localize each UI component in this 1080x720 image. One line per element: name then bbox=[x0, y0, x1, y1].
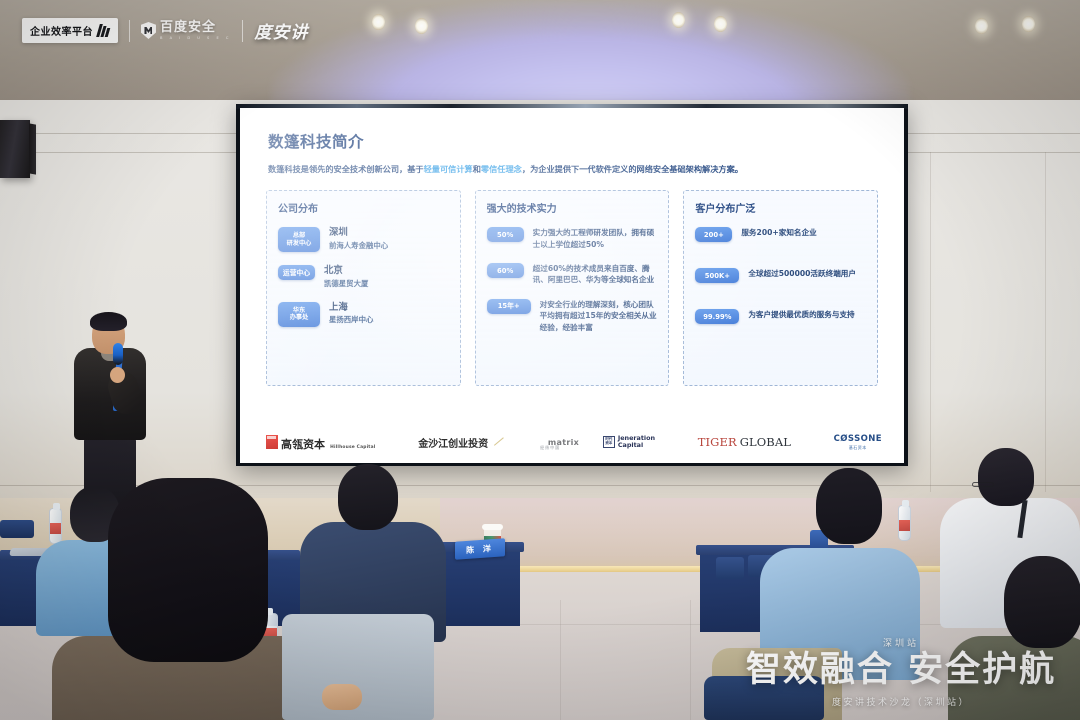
intro-part-3: ，为企业提供下一代软件定义的网络安全基础架构解决方案。 bbox=[522, 164, 743, 174]
intro-part-2: 和 bbox=[473, 164, 481, 174]
wall-seam bbox=[0, 485, 1080, 486]
slide-title: 数篷科技简介 bbox=[268, 130, 878, 152]
ceiling-downlight bbox=[372, 14, 385, 30]
column-heading: 强大的技术实力 bbox=[487, 200, 659, 215]
stat-text: 为客户提供最优质的服务与支持 bbox=[748, 309, 854, 320]
stat-row: 15年+ 对安全行业的理解深刻，核心团队平均拥有超过15年的安全相关从业经验，经… bbox=[487, 299, 659, 333]
investor-name-en: CØSSONE bbox=[834, 434, 882, 444]
column-heading: 客户分布广泛 bbox=[695, 200, 867, 215]
stat-row: 200+ 服务200+家知名企业 bbox=[695, 227, 867, 242]
wall-panel-edge bbox=[1045, 152, 1046, 492]
baidu-sub: B A I D U S E C bbox=[160, 36, 231, 40]
investor-name-en-2: Capital bbox=[618, 442, 655, 449]
projection-screen: 数篷科技简介 数篷科技是领先的安全技术创新公司，基于轻量可信计算和零信任理念，为… bbox=[240, 108, 904, 463]
location-city: 上海 bbox=[329, 302, 373, 314]
stat-text: 实力强大的工程师研发团队，拥有硕士以上学位超过50% bbox=[533, 227, 659, 250]
stat-row: 50% 实力强大的工程师研发团队，拥有硕士以上学位超过50% bbox=[487, 227, 659, 250]
ceiling-downlight bbox=[714, 16, 727, 32]
location-address: 星扬西岸中心 bbox=[329, 315, 373, 325]
gsr-slash-icon bbox=[494, 438, 504, 447]
stat-row: 99.99% 为客户提供最优质的服务与支持 bbox=[695, 309, 867, 324]
matrix-cn-wrap: 经纬中国 bbox=[540, 445, 560, 451]
location-address: 凯德星贸大厦 bbox=[324, 279, 368, 289]
stat-text: 超过60%的技术成员来自百度、腾讯、阿里巴巴、华为等全球知名企业 bbox=[533, 263, 659, 286]
stat-badge: 15年+ bbox=[487, 299, 531, 314]
location-city: 北京 bbox=[324, 265, 368, 277]
column-customer-distribution: 客户分布广泛 200+ 服务200+家知名企业 500K+ 全球超过500000… bbox=[683, 190, 878, 386]
stat-badge: 50% bbox=[487, 227, 524, 242]
location-row: 总部 研发中心 深圳 前海人寿金融中心 bbox=[278, 227, 450, 252]
stat-text: 服务200+家知名企业 bbox=[741, 227, 816, 238]
investor-logo-gsr: 金沙江创业投资 bbox=[418, 435, 505, 450]
logo-enterprise-efficiency-platform: 企业效率平台 bbox=[22, 18, 118, 43]
projection-screen-frame: 数篷科技简介 数篷科技是领先的安全技术创新公司，基于轻量可信计算和零信任理念，为… bbox=[236, 104, 908, 466]
ceiling-downlight bbox=[975, 18, 988, 34]
investor-logo-hillhouse: 高瓴资本 Hillhouse Capital bbox=[266, 433, 375, 452]
baidu-text: 百度安全 B A I D U S E C bbox=[160, 21, 231, 40]
location-text: 北京 凯德星贸大厦 bbox=[324, 265, 368, 288]
logo-baidu-security: 百度安全 B A I D U S E C bbox=[141, 21, 231, 40]
intro-highlight-2: 零信任理念 bbox=[481, 164, 522, 174]
ceiling-downlight bbox=[1022, 16, 1035, 32]
baidu-shield-icon bbox=[141, 22, 156, 39]
investor-logo-strip: 高瓴资本 Hillhouse Capital 金沙江创业投资 matrix 经纬… bbox=[266, 427, 882, 457]
location-city: 深圳 bbox=[329, 227, 388, 239]
floor-tile-line bbox=[560, 600, 561, 720]
floor bbox=[0, 572, 1080, 720]
investor-name-cn: 基石资本 bbox=[849, 445, 867, 451]
stat-text: 全球超过500000活跃终端用户 bbox=[748, 268, 856, 279]
stat-badge: 99.99% bbox=[695, 309, 739, 324]
investor-logo-jeneration: 时代 资本 Jeneration Capital bbox=[603, 435, 655, 449]
stat-text: 对安全行业的理解深刻，核心团队平均拥有超过15年的安全相关从业经验，经验丰富 bbox=[540, 299, 659, 333]
broadcast-brand-bar: 企业效率平台 百度安全 B A I D U S E C 度安讲 bbox=[22, 18, 308, 43]
ceiling-projector-glow bbox=[270, 0, 910, 104]
investor-name-cn: 金沙江创业投资 bbox=[418, 435, 488, 450]
wall-speaker bbox=[0, 120, 30, 178]
location-address: 前海人寿金融中心 bbox=[329, 241, 388, 251]
ceiling-downlight bbox=[415, 18, 428, 34]
stat-badge: 500K+ bbox=[695, 268, 739, 283]
location-row: 华东 办事处 上海 星扬西岸中心 bbox=[278, 302, 450, 327]
hillhouse-text: 高瓴资本 Hillhouse Capital bbox=[281, 433, 375, 452]
investor-name-cn: 经纬中国 bbox=[540, 445, 560, 451]
floor-tile-line bbox=[690, 600, 691, 720]
stat-row: 500K+ 全球超过500000活跃终端用户 bbox=[695, 268, 867, 283]
location-badge: 运营中心 bbox=[278, 265, 315, 280]
investor-logo-matrix: matrix 经纬中国 bbox=[548, 434, 560, 451]
wall-panel-edge bbox=[930, 152, 931, 492]
platform-label: 企业效率平台 bbox=[30, 23, 93, 38]
investor-logo-tiger-global: TIGERGLOBAL bbox=[698, 435, 791, 449]
investor-name-part-2: GLOBAL bbox=[740, 435, 791, 449]
location-text: 上海 星扬西岸中心 bbox=[329, 302, 373, 325]
baidu-name: 百度安全 bbox=[160, 21, 231, 34]
location-text: 深圳 前海人寿金融中心 bbox=[329, 227, 388, 250]
investor-logo-cornerstone: CØSSONE 基石资本 bbox=[834, 434, 882, 451]
location-badge: 华东 办事处 bbox=[278, 302, 320, 327]
conference-photo: 数篷科技简介 数篷科技是领先的安全技术创新公司，基于轻量可信计算和零信任理念，为… bbox=[0, 0, 1080, 720]
hillhouse-mark-icon bbox=[266, 435, 278, 449]
investor-name-cn: 高瓴资本 bbox=[281, 438, 325, 451]
investor-name-part-1: TIGER bbox=[698, 435, 737, 449]
ceiling-downlight bbox=[672, 12, 685, 28]
brand-separator bbox=[129, 20, 130, 42]
jeneration-seal-icon: 时代 资本 bbox=[603, 436, 615, 448]
intro-highlight-1: 轻量可信计算 bbox=[424, 164, 473, 174]
stat-badge: 60% bbox=[487, 263, 524, 278]
slide-content: 数篷科技简介 数篷科技是领先的安全技术创新公司，基于轻量可信计算和零信任理念，为… bbox=[240, 108, 904, 463]
location-row: 运营中心 北京 凯德星贸大厦 bbox=[278, 265, 450, 288]
slash-bars-icon bbox=[98, 24, 109, 37]
location-badge: 总部 研发中心 bbox=[278, 227, 320, 252]
column-technical-strength: 强大的技术实力 50% 实力强大的工程师研发团队，拥有硕士以上学位超过50% 6… bbox=[475, 190, 670, 386]
stat-row: 60% 超过60%的技术成员来自百度、腾讯、阿里巴巴、华为等全球知名企业 bbox=[487, 263, 659, 286]
slide-intro-paragraph: 数篷科技是领先的安全技术创新公司，基于轻量可信计算和零信任理念，为企业提供下一代… bbox=[268, 163, 878, 176]
logo-duanjiang-series: 度安讲 bbox=[254, 18, 308, 43]
slide-columns: 公司分布 总部 研发中心 深圳 前海人寿金融中心 运营中心 北京 bbox=[266, 190, 878, 386]
brand-separator bbox=[242, 20, 243, 42]
column-heading: 公司分布 bbox=[278, 200, 450, 215]
jeneration-text: Jeneration Capital bbox=[618, 435, 655, 449]
wall-wainscot-tint bbox=[440, 498, 1080, 568]
stat-badge: 200+ bbox=[695, 227, 732, 242]
floor-tile-line bbox=[0, 624, 1080, 625]
investor-name-en: Hillhouse Capital bbox=[330, 445, 375, 450]
intro-part-1: 数篷科技是领先的安全技术创新公司，基于 bbox=[268, 164, 424, 174]
column-company-distribution: 公司分布 总部 研发中心 深圳 前海人寿金融中心 运营中心 北京 bbox=[266, 190, 461, 386]
